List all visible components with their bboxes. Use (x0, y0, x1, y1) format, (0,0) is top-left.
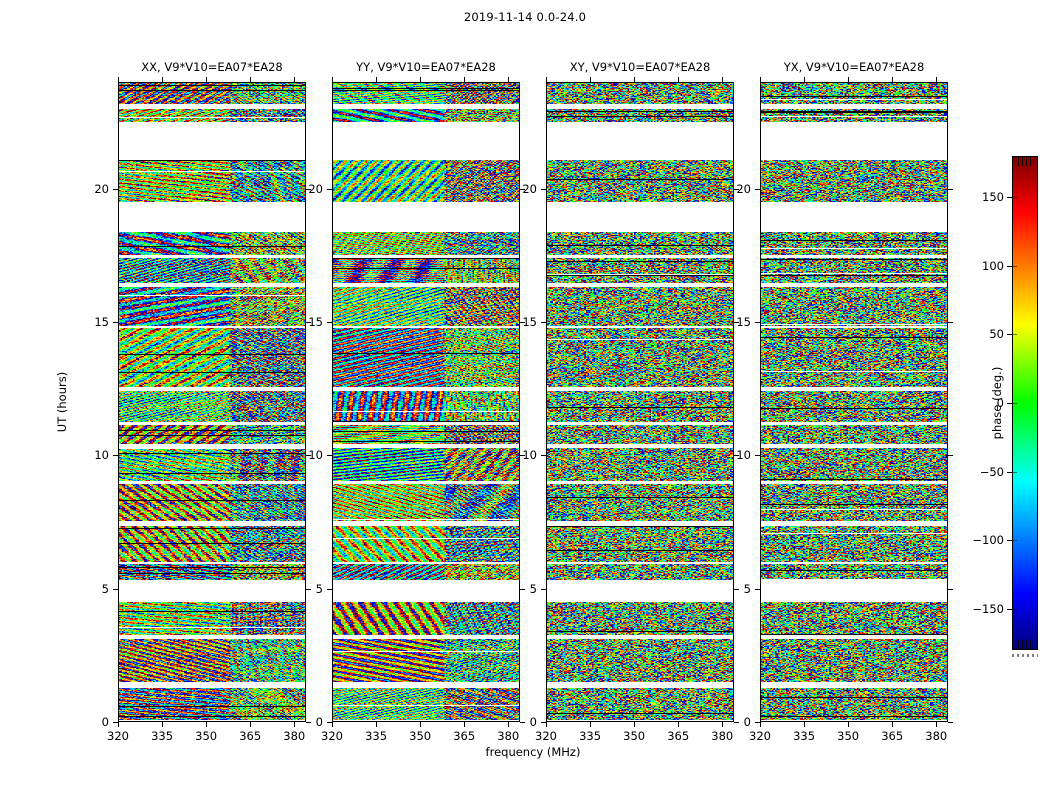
y-tick-label: 10 (736, 448, 751, 462)
scan-band (547, 109, 733, 122)
x-tick-label: 365 (881, 729, 903, 743)
x-tick-top (634, 77, 635, 82)
scan-band-image (547, 391, 733, 422)
scan-band-image (761, 109, 947, 122)
y-tick (755, 322, 760, 323)
colorbar-tick-inner (1012, 540, 1017, 541)
colorbar-top-mark (1018, 157, 1019, 166)
x-tick-top (678, 77, 679, 82)
scan-band (547, 328, 733, 387)
scan-band-image (547, 160, 733, 202)
x-tick-top (250, 77, 251, 82)
scan-band (547, 564, 733, 580)
x-tick-top (590, 77, 591, 82)
panel-title: XY, V9*V10=EA07*EA28 (570, 60, 711, 74)
scan-band-image (119, 160, 305, 202)
scan-band-image (333, 328, 519, 387)
scan-band (119, 328, 305, 387)
y-tick (113, 189, 118, 190)
colorbar[interactable]: 150100500−50−100−150 (1012, 156, 1038, 650)
scan-band (761, 83, 947, 104)
y-tick-label: 0 (316, 715, 323, 729)
scan-band-image (333, 484, 519, 521)
scan-band-image (333, 564, 519, 580)
colorbar-tick-label: −50 (980, 465, 1004, 479)
scan-band-image (333, 639, 519, 682)
y-tick (541, 189, 546, 190)
y-tick-label: 5 (530, 582, 537, 596)
y-tick-label: 15 (94, 315, 109, 329)
x-tick-label: 350 (837, 729, 859, 743)
scan-band (333, 448, 519, 481)
x-tick-top (420, 77, 421, 82)
scan-band (761, 602, 947, 635)
x-tick (332, 722, 333, 727)
plot-area[interactable] (546, 82, 734, 722)
scan-band (547, 391, 733, 422)
scan-band (333, 484, 519, 521)
scan-band-image (333, 391, 519, 422)
scan-band-image (119, 287, 305, 326)
scan-band (547, 688, 733, 720)
y-tick-right (734, 589, 739, 590)
x-tick-top (464, 77, 465, 82)
scan-band-image (761, 484, 947, 521)
scan-band (547, 526, 733, 562)
scan-band (119, 564, 305, 580)
scan-band (761, 639, 947, 682)
x-tick (118, 722, 119, 727)
scan-band-image (761, 160, 947, 202)
scan-band-image (333, 83, 519, 104)
y-tick-label: 20 (522, 182, 537, 196)
x-tick (546, 722, 547, 727)
scan-band (547, 232, 733, 255)
scan-band-image (761, 688, 947, 720)
x-tick-label: 350 (623, 729, 645, 743)
scan-band-image (547, 448, 733, 481)
colorbar-top-mark (1022, 157, 1023, 166)
scan-band (547, 484, 733, 521)
scan-band (119, 526, 305, 562)
x-tick (206, 722, 207, 727)
y-tick-label: 0 (744, 715, 751, 729)
scan-band (119, 484, 305, 521)
x-tick-label: 380 (497, 729, 519, 743)
scan-band (547, 258, 733, 283)
scan-band-image (547, 109, 733, 122)
x-tick-top (804, 77, 805, 82)
x-tick-top (722, 77, 723, 82)
scan-band-image (547, 425, 733, 444)
x-tick-top (546, 77, 547, 82)
x-tick-top (892, 77, 893, 82)
colorbar-tick-inner (1012, 609, 1017, 610)
scan-band-image (333, 109, 519, 122)
y-tick (327, 322, 332, 323)
scan-band-image (761, 425, 947, 444)
scan-band (119, 425, 305, 444)
y-tick-label: 15 (308, 315, 323, 329)
scan-band-image (761, 83, 947, 104)
scan-band (119, 448, 305, 481)
y-axis-label: UT (hours) (55, 372, 69, 432)
colorbar-title: phase (deg.) (990, 367, 1004, 440)
panel-xy[interactable]: XY, V9*V10=EA07*EA28 0510152032033535036… (546, 82, 734, 722)
figure-canvas: 2019-11-14 0.0-24.0 UT (hours) frequency… (0, 0, 1050, 800)
colorbar-tick-label: 100 (982, 259, 1004, 273)
scan-band-image (119, 391, 305, 422)
scan-band-image (547, 258, 733, 283)
scan-band (333, 287, 519, 326)
scan-band-image (547, 287, 733, 326)
x-tick-top (508, 77, 509, 82)
scan-band-image (547, 688, 733, 720)
plot-area[interactable] (332, 82, 520, 722)
scan-band (547, 287, 733, 326)
scan-band-image (333, 287, 519, 326)
scan-band-image (761, 232, 947, 255)
y-tick-right (734, 722, 739, 723)
scan-band (761, 526, 947, 562)
colorbar-tick-inner (1012, 472, 1017, 473)
x-tick-top (332, 77, 333, 82)
scan-band-image (333, 526, 519, 562)
scan-band (333, 160, 519, 202)
scan-band (119, 109, 305, 122)
x-tick (464, 722, 465, 727)
scan-band (333, 639, 519, 682)
plot-area[interactable] (118, 82, 306, 722)
panel-yy[interactable]: YY, V9*V10=EA07*EA28 0510152032033535036… (332, 82, 520, 722)
y-tick-label: 0 (102, 715, 109, 729)
scan-band-image (119, 484, 305, 521)
x-tick-label: 320 (321, 729, 343, 743)
scan-band-image (761, 391, 947, 422)
x-tick-label: 365 (667, 729, 689, 743)
x-tick-label: 335 (579, 729, 601, 743)
scan-band (333, 232, 519, 255)
x-tick-label: 350 (195, 729, 217, 743)
x-tick-top (376, 77, 377, 82)
y-tick (327, 455, 332, 456)
colorbar-tick-label: 50 (989, 327, 1004, 341)
scan-band (333, 602, 519, 635)
y-tick-label: 20 (94, 182, 109, 196)
x-tick-label: 320 (749, 729, 771, 743)
colorbar-top-mark (1030, 157, 1031, 166)
scan-band (761, 328, 947, 387)
y-tick-right (520, 589, 525, 590)
x-tick-label: 380 (925, 729, 947, 743)
y-tick-label: 15 (522, 315, 537, 329)
scan-band-image (761, 258, 947, 283)
y-tick-label: 0 (530, 715, 537, 729)
y-tick-right (306, 722, 311, 723)
colorbar-tick-inner (1012, 403, 1017, 404)
scan-band (333, 688, 519, 720)
x-tick (678, 722, 679, 727)
scan-band (761, 160, 947, 202)
scan-band-image (761, 602, 947, 635)
y-tick-right (948, 722, 953, 723)
panel-title: YY, V9*V10=EA07*EA28 (356, 60, 496, 74)
y-tick (541, 322, 546, 323)
scan-band-image (547, 232, 733, 255)
x-tick (722, 722, 723, 727)
y-tick-label: 20 (736, 182, 751, 196)
scan-band (761, 688, 947, 720)
scan-band (333, 258, 519, 283)
x-tick-top (848, 77, 849, 82)
colorbar-top-mark (1026, 157, 1027, 166)
scan-band-image (761, 328, 947, 387)
y-tick (755, 189, 760, 190)
scan-band-image (333, 425, 519, 444)
panel-xx[interactable]: XX, V9*V10=EA07*EA28 0510152032033535036… (118, 82, 306, 722)
scan-band-image (547, 639, 733, 682)
x-tick-label: 320 (107, 729, 129, 743)
colorbar-bottom-mark (1022, 640, 1023, 649)
scan-band-image (119, 425, 305, 444)
y-tick-label: 20 (308, 182, 323, 196)
scan-band-image (547, 83, 733, 104)
scan-band-image (119, 564, 305, 580)
y-tick (327, 189, 332, 190)
scan-band (761, 258, 947, 283)
scan-band-image (119, 258, 305, 283)
scan-band-image (761, 639, 947, 682)
scan-band (119, 160, 305, 202)
y-tick (113, 589, 118, 590)
y-tick-label: 10 (522, 448, 537, 462)
scan-band (119, 602, 305, 635)
scan-band (761, 484, 947, 521)
x-tick-label: 365 (239, 729, 261, 743)
scan-band-image (119, 109, 305, 122)
scan-band (761, 109, 947, 122)
scan-band-image (119, 602, 305, 635)
scan-band (333, 564, 519, 580)
scan-band (547, 83, 733, 104)
x-tick (294, 722, 295, 727)
scan-band (119, 287, 305, 326)
scan-band (547, 602, 733, 635)
x-tick (420, 722, 421, 727)
scan-band (119, 258, 305, 283)
colorbar-tick-inner (1012, 266, 1017, 267)
y-tick-right (948, 589, 953, 590)
scan-band (761, 425, 947, 444)
x-tick (590, 722, 591, 727)
scan-band (119, 391, 305, 422)
panel-yx[interactable]: YX, V9*V10=EA07*EA28 0510152032033535036… (760, 82, 948, 722)
scan-band-image (333, 602, 519, 635)
colorbar-tick-inner (1012, 197, 1017, 198)
x-tick (376, 722, 377, 727)
scan-band (333, 425, 519, 444)
scan-band-image (761, 526, 947, 562)
x-tick-label: 335 (151, 729, 173, 743)
y-tick (541, 455, 546, 456)
colorbar-tick-label: 150 (982, 190, 1004, 204)
scan-band-image (333, 160, 519, 202)
scan-band-image (333, 688, 519, 720)
scan-band-image (119, 448, 305, 481)
scan-band (761, 232, 947, 255)
y-tick-label: 15 (736, 315, 751, 329)
scan-band (333, 526, 519, 562)
scan-band-image (119, 639, 305, 682)
scan-band (547, 160, 733, 202)
x-tick-label: 320 (535, 729, 557, 743)
colorbar-bottom-mark (1030, 640, 1031, 649)
x-tick-label: 335 (365, 729, 387, 743)
colorbar-tick-label: −100 (972, 533, 1004, 547)
x-axis-label: frequency (MHz) (486, 745, 581, 759)
scan-band (761, 287, 947, 326)
scan-band (119, 232, 305, 255)
y-tick (755, 455, 760, 456)
x-tick-top (294, 77, 295, 82)
x-tick (634, 722, 635, 727)
scan-band (333, 109, 519, 122)
x-tick (892, 722, 893, 727)
scan-band-image (333, 258, 519, 283)
x-tick (508, 722, 509, 727)
scan-band (119, 688, 305, 720)
colorbar-tick-label: −150 (972, 602, 1004, 616)
y-tick (113, 322, 118, 323)
scan-band-image (547, 484, 733, 521)
x-tick (760, 722, 761, 727)
colorbar-bottom-mark (1026, 640, 1027, 649)
x-tick-top (162, 77, 163, 82)
x-tick-label: 380 (711, 729, 733, 743)
y-tick (755, 589, 760, 590)
scan-band-image (547, 328, 733, 387)
scan-band (333, 328, 519, 387)
y-tick-right (306, 589, 311, 590)
scan-band-image (333, 232, 519, 255)
x-tick-top (206, 77, 207, 82)
y-tick (113, 455, 118, 456)
x-tick-top (118, 77, 119, 82)
x-tick (848, 722, 849, 727)
colorbar-tick-inner (1012, 334, 1017, 335)
scan-band-image (119, 232, 305, 255)
x-tick-top (760, 77, 761, 82)
x-tick (250, 722, 251, 727)
scan-band (761, 448, 947, 481)
x-tick-label: 350 (409, 729, 431, 743)
scan-band-image (761, 564, 947, 580)
x-tick (162, 722, 163, 727)
y-tick-right (520, 722, 525, 723)
scan-band (547, 425, 733, 444)
scan-band (333, 391, 519, 422)
scan-band-image (761, 287, 947, 326)
scan-band-image (119, 328, 305, 387)
x-tick (936, 722, 937, 727)
scan-band-image (547, 564, 733, 580)
x-tick-label: 365 (453, 729, 475, 743)
x-tick-label: 380 (283, 729, 305, 743)
y-tick-label: 10 (308, 448, 323, 462)
scan-band (547, 448, 733, 481)
x-tick-label: 335 (793, 729, 815, 743)
scan-band-image (761, 448, 947, 481)
panel-title: YX, V9*V10=EA07*EA28 (784, 60, 925, 74)
y-tick (541, 589, 546, 590)
y-tick (327, 589, 332, 590)
scan-band (119, 83, 305, 104)
scan-band (761, 391, 947, 422)
scan-band (547, 639, 733, 682)
y-tick-right (948, 322, 953, 323)
y-tick-label: 10 (94, 448, 109, 462)
figure-suptitle: 2019-11-14 0.0-24.0 (0, 10, 1050, 24)
colorbar-underline-dots (1012, 654, 1038, 657)
scan-band-image (119, 526, 305, 562)
panel-title: XX, V9*V10=EA07*EA28 (141, 60, 282, 74)
scan-band (333, 83, 519, 104)
scan-band (119, 639, 305, 682)
x-tick-top (936, 77, 937, 82)
y-tick-label: 5 (744, 582, 751, 596)
y-tick-label: 5 (316, 582, 323, 596)
y-tick-right (948, 455, 953, 456)
y-tick-label: 5 (102, 582, 109, 596)
y-tick-right (948, 189, 953, 190)
scan-band (761, 564, 947, 580)
scan-band-image (547, 526, 733, 562)
plot-area[interactable] (760, 82, 948, 722)
colorbar-bottom-mark (1018, 640, 1019, 649)
scan-band-image (333, 448, 519, 481)
scan-band-image (547, 602, 733, 635)
x-tick (804, 722, 805, 727)
scan-band-image (119, 83, 305, 104)
scan-band-image (119, 688, 305, 720)
